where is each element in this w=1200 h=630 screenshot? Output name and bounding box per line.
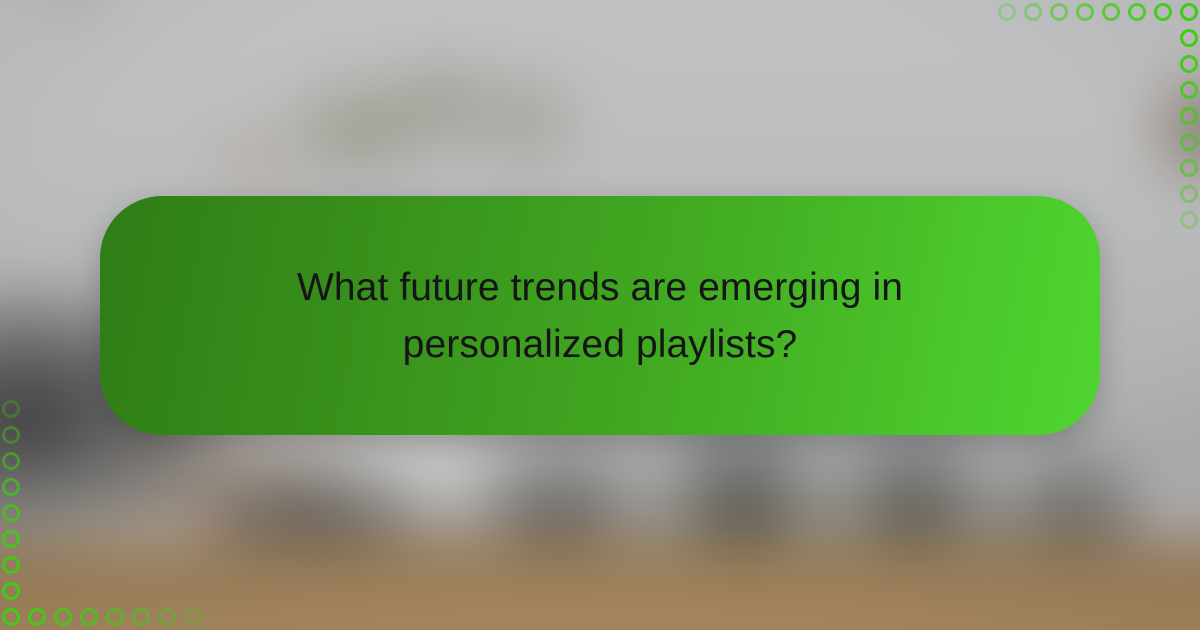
dot-right-edge-7-icon xyxy=(1180,185,1198,203)
dot-right-edge-4-icon xyxy=(1180,107,1198,125)
dot-top-right-8-icon xyxy=(1180,3,1198,21)
dot-right-edge-5-icon xyxy=(1180,133,1198,151)
dot-bottom-left-3-icon xyxy=(54,608,72,626)
decorative-dots-bottom-left xyxy=(2,608,202,626)
decorative-dots-right-edge xyxy=(1180,29,1198,229)
dot-top-right-4-icon xyxy=(1076,3,1094,21)
dot-top-right-1-icon xyxy=(998,3,1016,21)
dot-top-right-5-icon xyxy=(1102,3,1120,21)
dot-right-edge-2-icon xyxy=(1180,55,1198,73)
dot-left-edge-6-icon xyxy=(2,530,20,548)
dot-right-edge-8-icon xyxy=(1180,211,1198,229)
dot-left-edge-7-icon xyxy=(2,556,20,574)
dot-left-edge-5-icon xyxy=(2,504,20,522)
dot-bottom-left-6-icon xyxy=(132,608,150,626)
dot-bottom-left-1-icon xyxy=(2,608,20,626)
dot-top-right-2-icon xyxy=(1024,3,1042,21)
dot-bottom-left-8-icon xyxy=(184,608,202,626)
question-card: What future trends are emerging in perso… xyxy=(100,196,1100,435)
dot-right-edge-1-icon xyxy=(1180,29,1198,47)
decorative-dots-top-right xyxy=(998,3,1198,21)
dot-bottom-left-5-icon xyxy=(106,608,124,626)
dot-bottom-left-2-icon xyxy=(28,608,46,626)
dot-left-edge-3-icon xyxy=(2,452,20,470)
dot-right-edge-6-icon xyxy=(1180,159,1198,177)
question-text: What future trends are emerging in perso… xyxy=(280,259,920,373)
dot-top-right-6-icon xyxy=(1128,3,1146,21)
dot-top-right-3-icon xyxy=(1050,3,1068,21)
decorative-dots-left-edge xyxy=(2,400,20,600)
dot-left-edge-2-icon xyxy=(2,426,20,444)
dot-left-edge-1-icon xyxy=(2,400,20,418)
dot-top-right-7-icon xyxy=(1154,3,1172,21)
dot-bottom-left-7-icon xyxy=(158,608,176,626)
screenshot-canvas: What future trends are emerging in perso… xyxy=(0,0,1200,630)
dot-left-edge-8-icon xyxy=(2,582,20,600)
dot-right-edge-3-icon xyxy=(1180,81,1198,99)
dot-left-edge-4-icon xyxy=(2,478,20,496)
dot-bottom-left-4-icon xyxy=(80,608,98,626)
